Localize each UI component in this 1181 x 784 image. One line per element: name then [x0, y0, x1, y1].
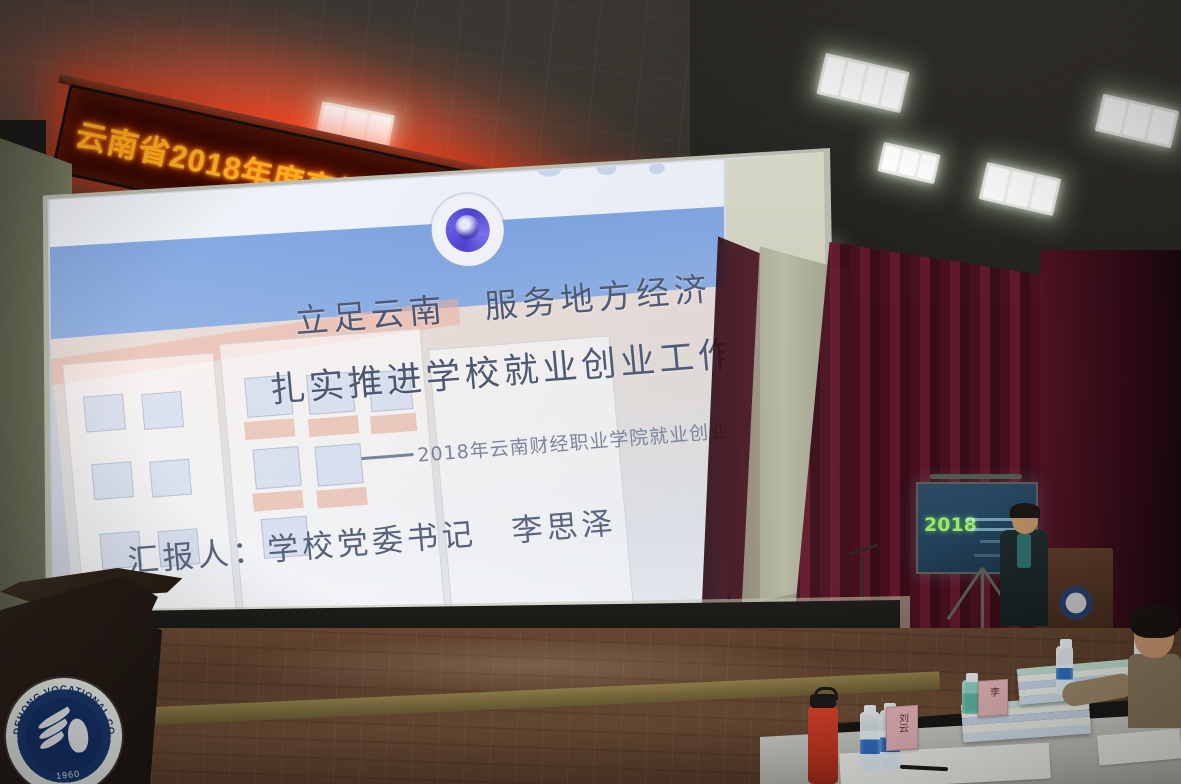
name-card-text: 刘云 — [897, 709, 908, 734]
slide-content: 立足云南 服务地方经济 扎实推进学校就业创业工作 2018年云南财经职业学院就业… — [40, 150, 796, 642]
thermos-handle — [814, 687, 838, 700]
water-bottle — [860, 712, 880, 772]
podium-emblem-small — [1059, 586, 1093, 620]
spiral-icon — [444, 206, 492, 253]
bottle-cap — [1060, 639, 1072, 648]
seated-attendee — [1128, 604, 1181, 724]
lamp-tube — [1006, 171, 1034, 207]
attendee-body — [1128, 654, 1181, 728]
bottle-cap — [864, 705, 876, 714]
building-window — [91, 461, 134, 500]
tripod-leg — [981, 568, 984, 630]
building-window — [149, 459, 192, 498]
building-window — [141, 391, 184, 430]
lamp-tube — [881, 70, 906, 109]
tripod-screen-top-bar — [930, 474, 1022, 479]
table-name-card-2: 李 — [978, 679, 1008, 717]
lamp-tube — [899, 150, 919, 177]
building-balcony — [370, 413, 417, 435]
lamp-tube — [1123, 103, 1152, 139]
lamp-tube — [1030, 176, 1058, 212]
presenter-person — [1000, 506, 1048, 626]
building-window — [314, 443, 363, 486]
table-name-card-1: 刘云 — [886, 705, 918, 751]
building-window — [252, 446, 301, 489]
lamp-tube — [917, 154, 937, 181]
lamp-tube — [881, 145, 901, 172]
subtitle-rule — [361, 453, 413, 460]
lamp-tube — [982, 166, 1010, 202]
red-thermos-bottle — [808, 706, 838, 784]
building-window — [83, 394, 126, 433]
winged-figure-icon — [33, 707, 94, 765]
name-card-text: 李 — [988, 683, 999, 698]
tripod-leg — [947, 567, 984, 620]
auditorium-photo: 云南省2018年度高校毕业生就业创业工作目标责任考核会（高职高专组） — [0, 0, 1181, 784]
presenter-hair — [1010, 503, 1040, 518]
dehong-college-emblem: DEHONG VOCATIONAL COLLEGE 1960 — [0, 672, 127, 784]
presenter-shirt — [1017, 534, 1031, 568]
lamp-tube — [1098, 97, 1127, 133]
face-profile-icon — [66, 718, 89, 754]
bottle-cap — [966, 673, 978, 682]
lamp-tube — [1147, 109, 1176, 145]
attendee-hair — [1130, 604, 1180, 638]
